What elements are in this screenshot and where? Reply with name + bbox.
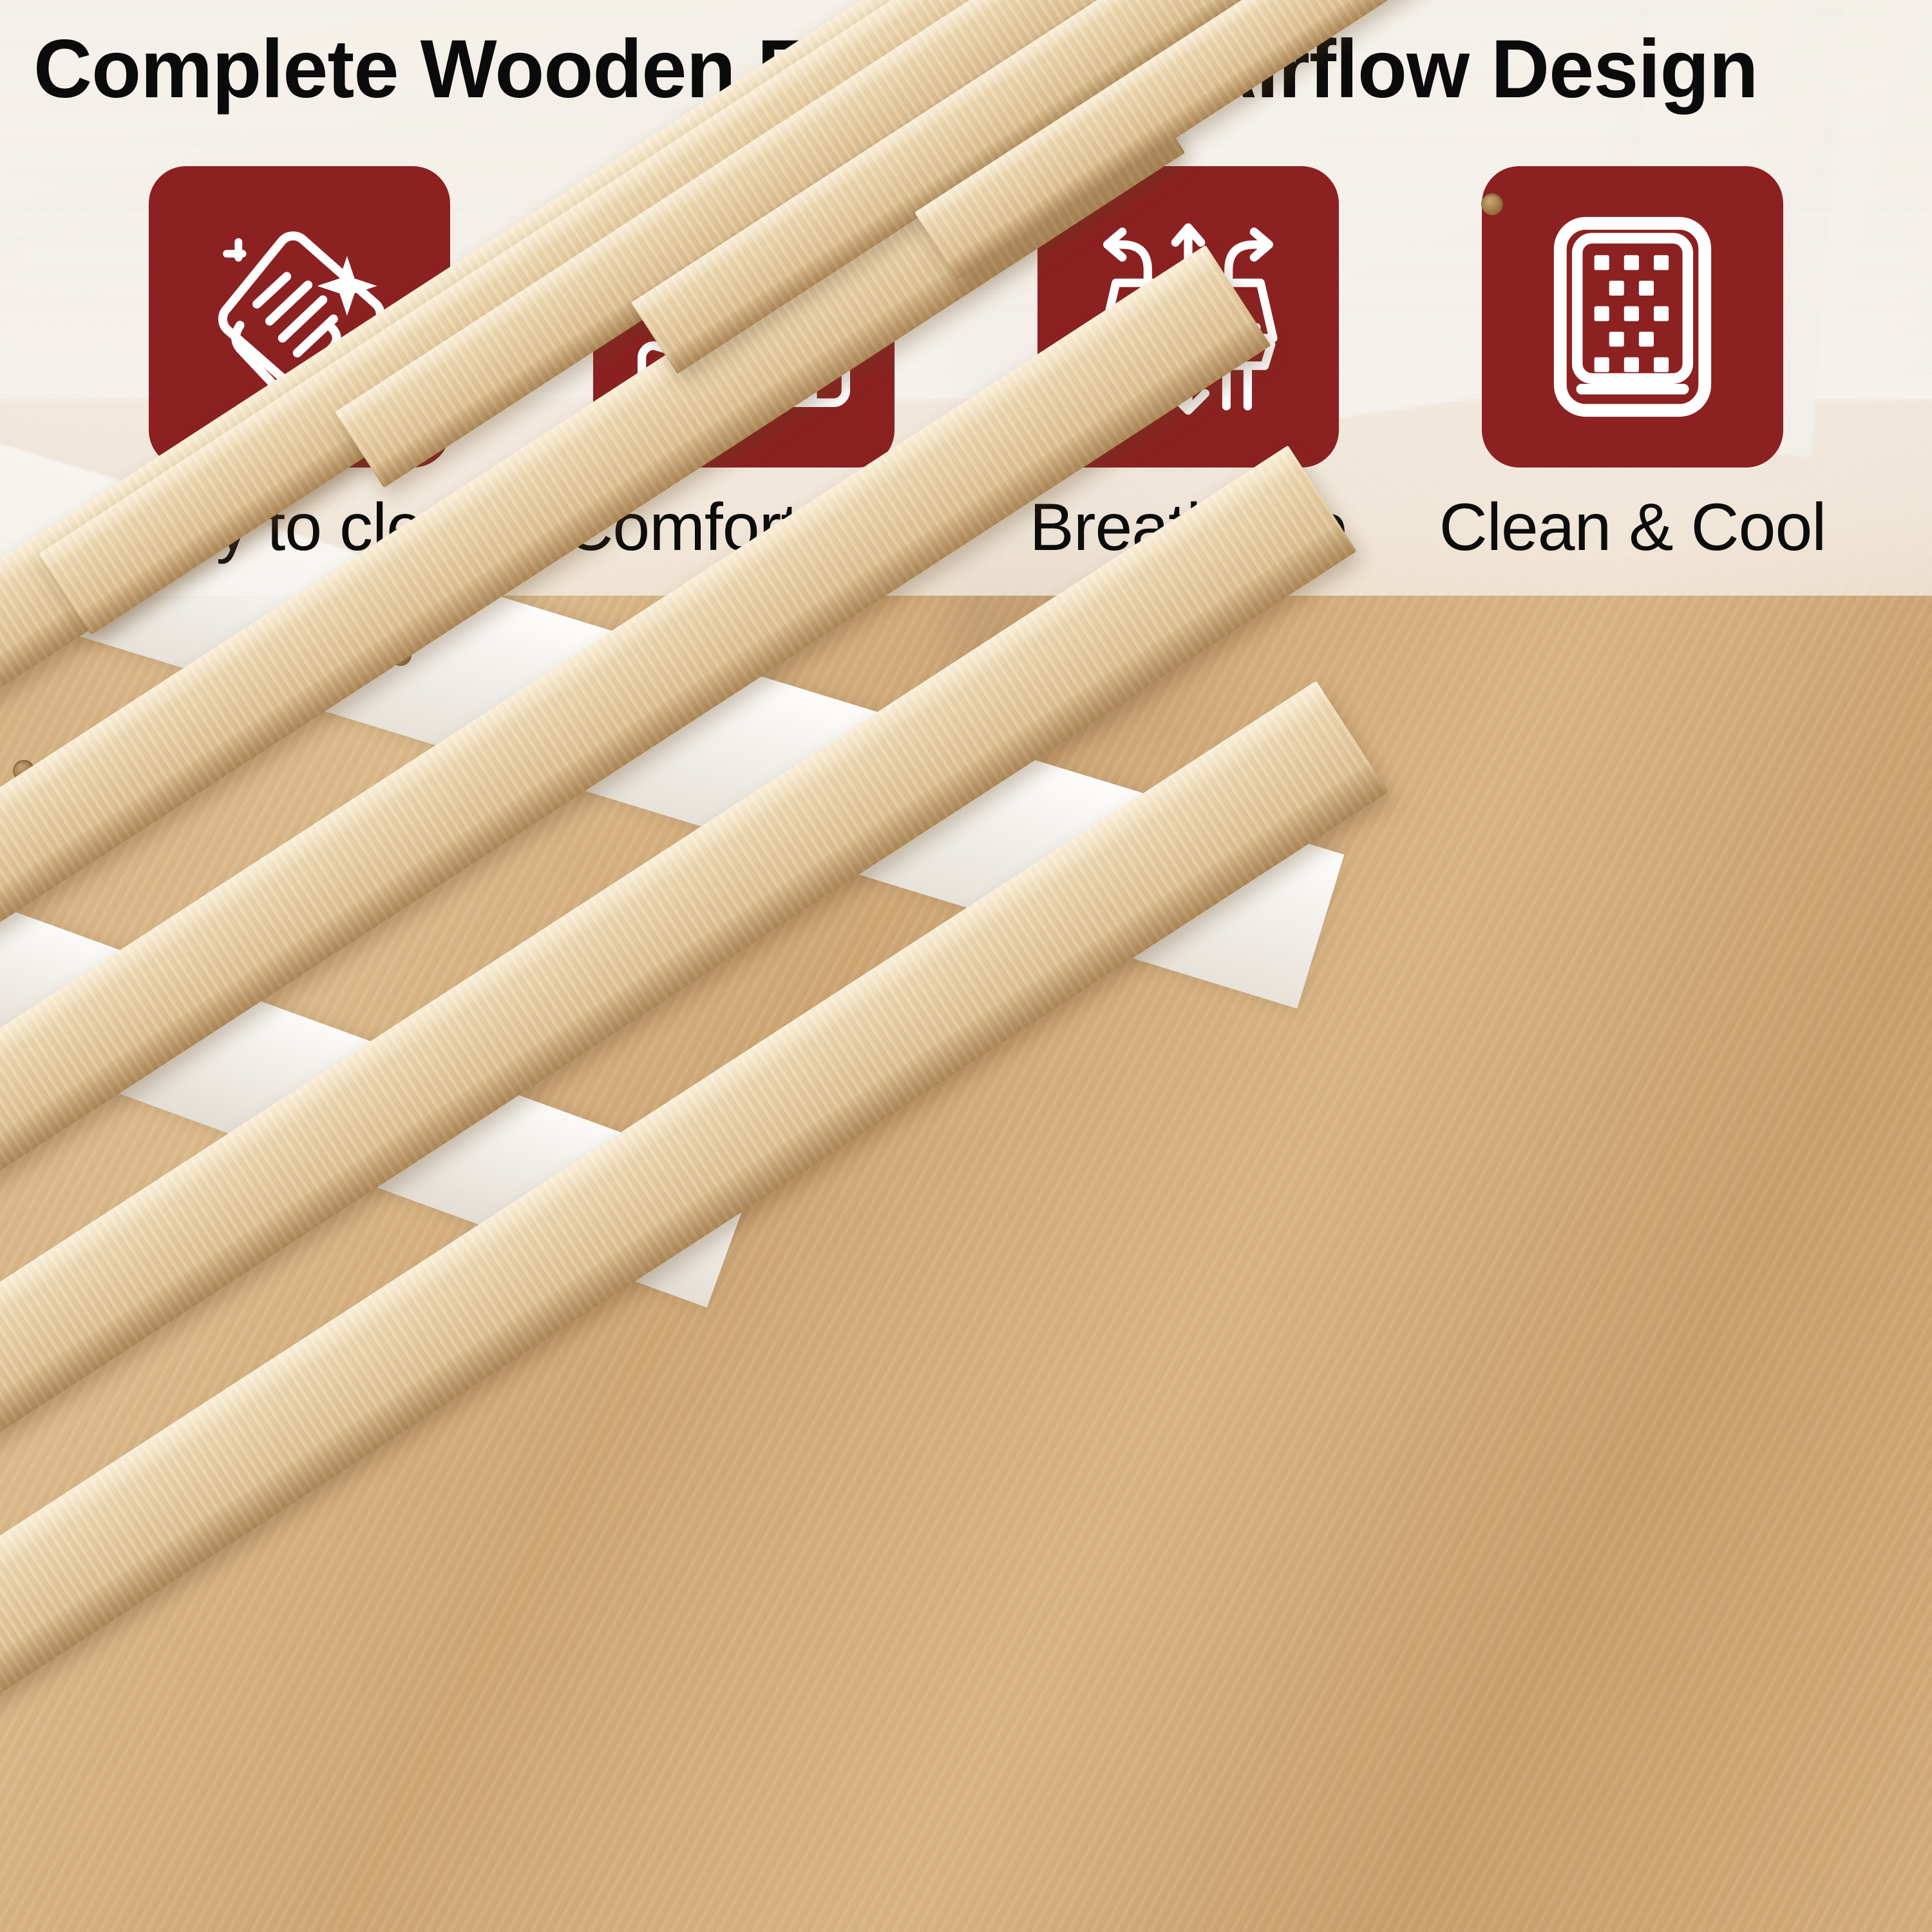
perforated-mattress-icon	[1526, 211, 1739, 423]
feature-badge-clean-and-cool	[1482, 166, 1783, 468]
photo-screw-hole	[1481, 193, 1503, 215]
perforation-grid	[1595, 255, 1669, 372]
feature-label-clean-and-cool: Clean & Cool	[1439, 489, 1826, 565]
feature-item-clean-and-cool[interactable]: Clean & Cool	[1410, 166, 1855, 565]
plus-sparkle-icon	[223, 238, 246, 261]
product-feature-banner: Complete Wooden Frame with Airflow Desig…	[0, 0, 1932, 1932]
